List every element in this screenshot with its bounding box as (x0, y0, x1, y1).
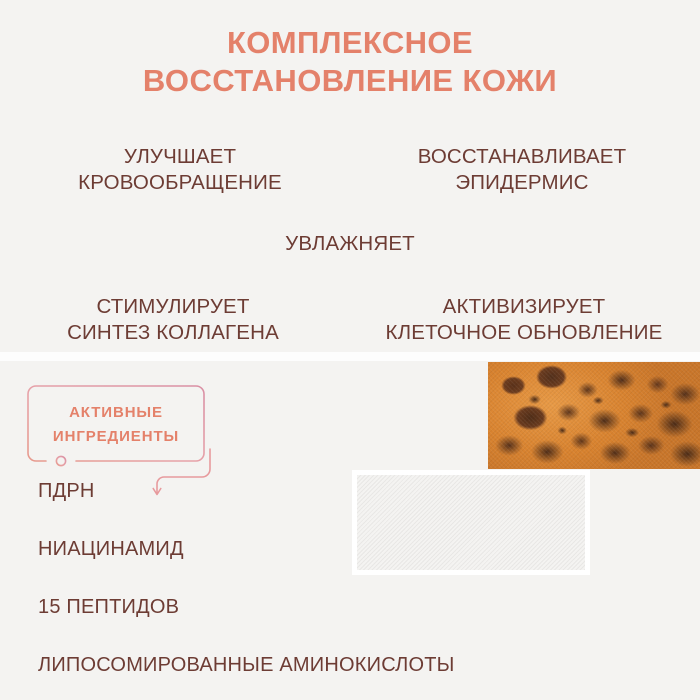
badge-tail-arrow-icon (150, 449, 230, 501)
ingredient-item: ЛИПОСОМИРОВАННЫЕ АМИНОКИСЛОТЫ (38, 654, 455, 677)
benefit-moisturizes: УВЛАЖНЯЕТ (0, 231, 700, 257)
promo-poster: КОМПЛЕКСНОЕ ВОССТАНОВЛЕНИЕ КОЖИ УЛУЧШАЕТ… (0, 0, 700, 700)
benefit-line-1: ВОССТАНАВЛИВАЕТ (352, 144, 692, 170)
orange-porous-sponge-image (488, 362, 700, 469)
benefit-improves-circulation: УЛУЧШАЕТ КРОВООБРАЩЕНИЕ (10, 144, 350, 196)
texture-overlay (488, 362, 700, 469)
page-title-line-1: КОМПЛЕКСНОЕ (0, 24, 700, 62)
benefits-section: КОМПЛЕКСНОЕ ВОССТАНОВЛЕНИЕ КОЖИ УЛУЧШАЕТ… (0, 0, 700, 352)
benefit-activates-cell-renewal: АКТИВИЗИРУЕТ КЛЕТОЧНОЕ ОБНОВЛЕНИЕ (348, 294, 700, 346)
benefit-line-2: КРОВООБРАЩЕНИЕ (10, 170, 350, 196)
page-title-line-2: ВОССТАНОВЛЕНИЕ КОЖИ (0, 62, 700, 100)
benefit-line-1: УВЛАЖНЯЕТ (0, 231, 700, 257)
benefit-line-2: КЛЕТОЧНОЕ ОБНОВЛЕНИЕ (348, 320, 700, 346)
benefit-stimulates-collagen: СТИМУЛИРУЕТ СИНТЕЗ КОЛЛАГЕНА (8, 294, 338, 346)
page-title: КОМПЛЕКСНОЕ ВОССТАНОВЛЕНИЕ КОЖИ (0, 24, 700, 101)
benefit-line-2: ЭПИДЕРМИС (352, 170, 692, 196)
benefit-line-1: АКТИВИЗИРУЕТ (348, 294, 700, 320)
benefit-line-2: СИНТЕЗ КОЛЛАГЕНА (8, 320, 338, 346)
ingredient-item: НИАЦИНАМИД (38, 538, 184, 561)
ingredient-item: ПДРН (38, 480, 95, 503)
ingredient-item: 15 ПЕПТИДОВ (38, 596, 179, 619)
section-divider (0, 352, 700, 361)
teal-foam-bubbles-image (352, 470, 590, 575)
benefit-line-1: СТИМУЛИРУЕТ (8, 294, 338, 320)
benefit-restores-epidermis: ВОССТАНАВЛИВАЕТ ЭПИДЕРМИС (352, 144, 692, 196)
benefit-line-1: УЛУЧШАЕТ (10, 144, 350, 170)
texture-overlay (357, 475, 585, 570)
